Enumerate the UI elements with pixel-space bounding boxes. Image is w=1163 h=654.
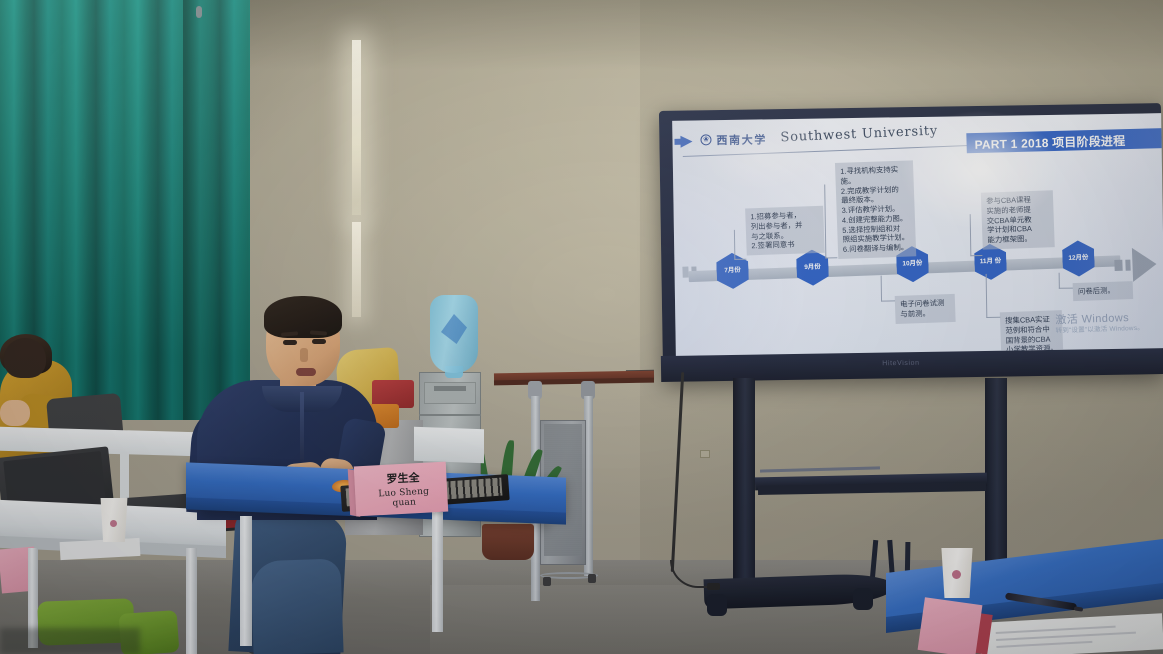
pink-name-card [918, 597, 983, 654]
presenter-eye-right [312, 339, 326, 344]
callout-posttest: 问卷后测。 [1073, 281, 1134, 301]
plant-pot [482, 524, 534, 560]
callout-july: 1.招募参与者， 列出参与者，并 与之联系。 2.签署同意书 [745, 206, 825, 256]
callout-posttest-leader [1059, 273, 1073, 289]
presenter-nose [300, 348, 308, 362]
tv-stand-column-right [985, 378, 1007, 578]
fluorescent-light [352, 40, 361, 215]
callout-pretest: 电子问卷试测 与前测。 [895, 294, 956, 324]
caster-wheel-right [853, 588, 873, 610]
wall-socket [700, 450, 710, 458]
curtain-rod-bracket [196, 6, 202, 18]
presenter-hair [264, 296, 342, 338]
power-plug [707, 583, 720, 590]
callout-october: 1.寻找机构支持实 施。 2.完成教学计划的 最终版本。 3.评估教学计划。 4… [835, 160, 916, 259]
callout-october-leader [824, 184, 837, 258]
presentation-slide: ❀ 西南大学 Southwest University PART 1 2018 … [672, 113, 1163, 356]
speaker-stand-foot-left [543, 577, 551, 586]
callout-resources: 搜集CBA实证 范例和符合中 国背景的CBA 小学教学资源。 [1000, 310, 1064, 356]
curtain-fold-shadow [183, 0, 213, 420]
name-placard-name-en: Luo Sheng quan [366, 486, 443, 510]
floor-shadow-left [0, 628, 140, 654]
presenter-mouth [296, 368, 316, 376]
classroom-photo: HiteVision ❀ 西南大学 Southwest University P… [0, 0, 1163, 654]
document-line [996, 632, 1136, 641]
callout-july-leader [734, 230, 746, 260]
callout-pretest-leader [881, 275, 895, 301]
presenter-eye-left [283, 340, 297, 345]
tv-stand-column-left [733, 378, 755, 588]
caster-wheel-left [707, 594, 727, 616]
water-cooler-taps[interactable] [434, 386, 466, 391]
callout-november: 参与CBA课程 实施的老师提 交CBA单元教 学计划和CBA 能力框架图。 [981, 190, 1055, 249]
callout-resources-leader [986, 274, 1001, 318]
presenter-knee [250, 558, 343, 654]
document-line [996, 641, 1092, 648]
white-chair-back[interactable] [414, 427, 484, 463]
name-placard-name-cn: 罗生全 [372, 468, 435, 487]
callout-november-leader [970, 214, 983, 256]
display-brand-label: HiteVision [846, 359, 956, 373]
blue-table-leg-right [432, 512, 443, 632]
speaker-stand-foot-right [588, 574, 596, 583]
attendee-left-head [4, 338, 46, 378]
white-desk-leg-right [186, 548, 197, 654]
fluorescent-light-lower [352, 222, 361, 317]
display-screen[interactable]: ❀ 西南大学 Southwest University PART 1 2018 … [672, 113, 1163, 356]
water-cooler-seam [419, 414, 481, 416]
paper-cup-logo [952, 570, 961, 579]
blue-table-leg-left [240, 516, 252, 646]
paper-cup-logo [110, 520, 117, 527]
attendee-left-hand [0, 400, 30, 426]
